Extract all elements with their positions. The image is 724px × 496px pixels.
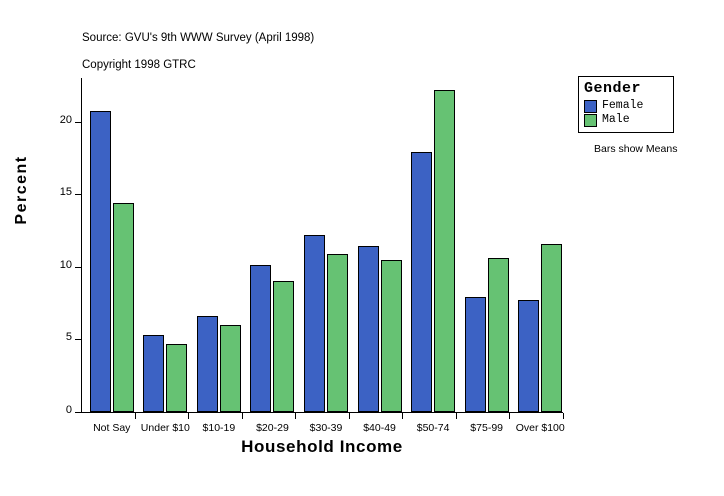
y-tick-label: 20 (60, 114, 72, 126)
x-axis-line (81, 412, 563, 413)
x-tick-mark (509, 413, 510, 419)
chart-container: Source: GVU's 9th WWW Survey (April 1998… (0, 0, 724, 496)
bar (541, 244, 562, 412)
bar (327, 254, 348, 412)
copyright-note: Copyright 1998 GTRC (82, 59, 196, 71)
y-tick-mark (75, 412, 81, 413)
y-axis-line (81, 78, 82, 413)
x-tick-mark (563, 413, 564, 419)
legend-title: Gender (584, 80, 668, 97)
bar (358, 246, 379, 412)
bar (113, 203, 134, 412)
bar (250, 265, 271, 412)
x-tick-mark (242, 413, 243, 419)
bar (411, 152, 432, 412)
legend: Gender Female Male (578, 76, 674, 133)
bar (465, 297, 486, 412)
plot-area: 05101520 Not SayUnder $10$10-19$20-29$30… (81, 78, 563, 413)
legend-item-female: Female (584, 100, 668, 113)
y-tick-mark (75, 194, 81, 195)
y-tick-mark (75, 122, 81, 123)
x-axis-category-label: $20-29 (256, 422, 289, 434)
bar (197, 316, 218, 412)
bar (434, 90, 455, 412)
y-tick-label: 5 (66, 331, 72, 343)
x-tick-mark (349, 413, 350, 419)
bar (166, 344, 187, 412)
x-tick-mark (456, 413, 457, 419)
y-axis-title: Percent (13, 155, 31, 224)
x-axis-category-label: Not Say (93, 422, 130, 434)
x-axis-category-label: $75-99 (470, 422, 503, 434)
x-tick-mark (402, 413, 403, 419)
x-axis-category-label: $50-74 (417, 422, 450, 434)
x-tick-mark (135, 413, 136, 419)
bar (90, 111, 111, 412)
source-note: Source: GVU's 9th WWW Survey (April 1998… (82, 32, 314, 44)
y-tick-mark (75, 339, 81, 340)
x-axis-title: Household Income (81, 437, 563, 457)
x-axis-category-label: Under $10 (141, 422, 190, 434)
bar (381, 260, 402, 412)
x-axis-category-label: Over $100 (516, 422, 565, 434)
bar (304, 235, 325, 412)
legend-label-female: Female (602, 100, 643, 113)
y-tick-mark (75, 267, 81, 268)
x-axis-category-label: $40-49 (363, 422, 396, 434)
y-tick-label: 15 (60, 186, 72, 198)
y-tick-label: 0 (66, 404, 72, 416)
legend-footnote: Bars show Means (594, 143, 677, 155)
bar (220, 325, 241, 412)
bar (143, 335, 164, 412)
x-tick-mark (188, 413, 189, 419)
legend-swatch-female (584, 100, 597, 113)
x-axis-category-label: $30-39 (310, 422, 343, 434)
bar (488, 258, 509, 412)
bar (518, 300, 539, 412)
x-tick-mark (295, 413, 296, 419)
y-tick-label: 10 (60, 259, 72, 271)
x-axis-category-label: $10-19 (203, 422, 236, 434)
legend-swatch-male (584, 114, 597, 127)
bar (273, 281, 294, 412)
legend-item-male: Male (584, 114, 668, 127)
legend-label-male: Male (602, 114, 630, 127)
